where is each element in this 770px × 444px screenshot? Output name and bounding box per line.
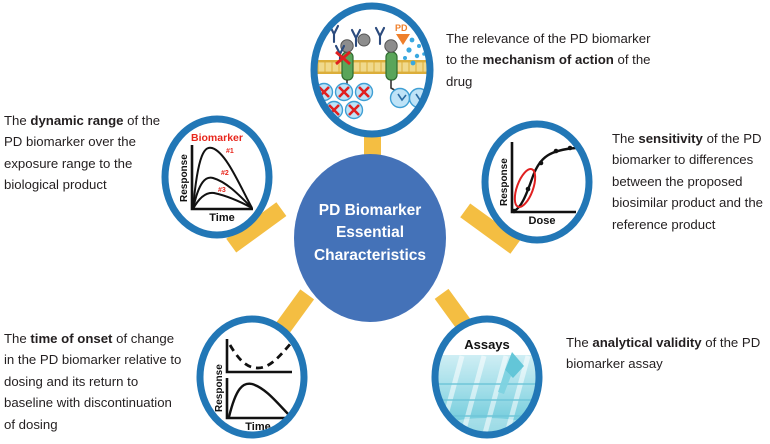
y-axis-label-response: Response <box>179 154 190 202</box>
pd-label: PD <box>395 23 408 33</box>
biomarker-chart-title: Biomarker <box>191 132 243 144</box>
callout-dynamic-range: The dynamic range of the PD biomarker ov… <box>4 110 172 196</box>
node-dose-response[interactable]: Dose Response <box>485 124 589 240</box>
node-mechanism-of-action[interactable]: PD <box>312 6 434 134</box>
node-time-of-onset[interactable]: Time Response <box>200 319 304 435</box>
callout-mechanism-of-action: The relevance of the PD biomarker to the… <box>446 28 661 92</box>
node-biomarker-curves[interactable]: Biomarker #1 #2 #3 Time Response <box>165 119 269 235</box>
callout-analytical-validity: The analytical validity of the PD biomar… <box>566 332 766 375</box>
y-axis-label-response: Response <box>499 158 510 206</box>
x-axis-label-dose: Dose <box>529 215 556 227</box>
curve-label-2: #2 <box>221 170 229 177</box>
y-axis-label-response: Response <box>214 364 225 412</box>
assays-label: Assays <box>464 337 510 352</box>
callout-time-of-onset: The time of onset of change in the PD bi… <box>4 328 184 435</box>
callout-sensitivity: The sensitivity of the PD biomarker to d… <box>612 128 770 235</box>
curve-label-1: #1 <box>226 148 234 155</box>
x-axis-label-time: Time <box>209 212 234 224</box>
node-assays[interactable]: Assays <box>432 319 550 442</box>
hub-circle <box>294 154 446 322</box>
curve-label-3: #3 <box>218 187 226 194</box>
